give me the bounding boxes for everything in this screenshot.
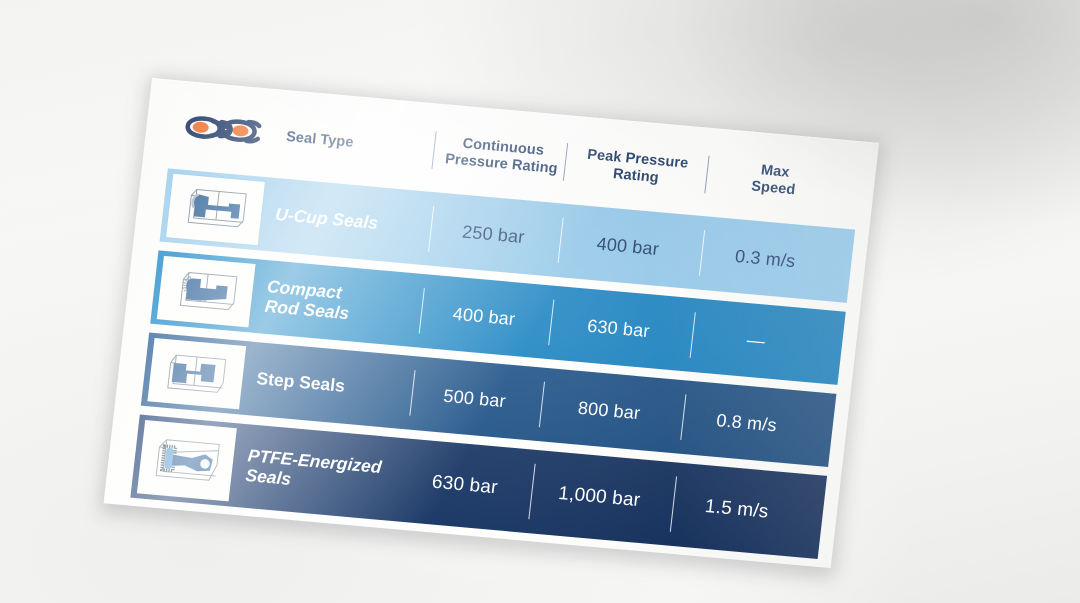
seal-profile-shape [185,278,229,303]
ptfe-energized-seal-drawing [143,426,230,496]
step-seal-drawing [154,342,240,404]
u-cup-seal-drawing [172,178,258,240]
cell-peak-pressure: 630 bar [552,312,686,345]
osc-logo-mark [179,109,266,150]
seal-profile-shape [172,361,216,385]
column-header-seal-type: Seal Type [283,128,436,158]
osc-logo [179,109,266,150]
cell-continuous-pressure: 250 bar [433,219,553,250]
cell-max-speed: 0.8 m/s [686,407,808,438]
compact-rod-seal-drawing [163,260,249,322]
cell-max-speed: 1.5 m/s [676,494,798,526]
seal-comparison-table: Seal Type Continuous Pressure Rating Pea… [131,94,863,551]
step-seal-icon [147,338,246,409]
column-header-continuous-pressure: Continuous Pressure Rating [442,134,563,178]
cell-max-speed: 0.3 m/s [704,243,826,274]
column-header-peak-pressure: Peak Pressure Rating [569,146,704,191]
card-surface: Seal Type Continuous Pressure Rating Pea… [104,78,880,568]
row-label: PTFE-Energized Seals [244,447,408,500]
cell-continuous-pressure: 400 bar [424,301,544,332]
cell-peak-pressure: 800 bar [542,394,676,427]
logo-dot-right [232,125,249,137]
row-label: Step Seals [255,369,417,403]
cell-continuous-pressure: 500 bar [415,383,535,414]
cell-peak-pressure: 1,000 bar [532,481,666,514]
column-header-max-speed: Max Speed [713,159,836,203]
cell-peak-pressure: 400 bar [561,230,695,263]
cell-max-speed: — [695,325,817,356]
row-label: Compact Rod Seals [264,278,428,331]
row-label-line-1: Step Seals [256,368,346,396]
header-separator-2 [563,143,569,181]
cell-continuous-pressure: 630 bar [405,469,525,501]
photo-scene: Seal Type Continuous Pressure Rating Pea… [0,0,1080,603]
ptfe-energized-seal-icon [137,420,237,501]
row-label: U-Cup Seals [274,205,436,239]
row-label-line-1: U-Cup Seals [274,204,379,233]
logo-dot-left [192,121,209,133]
spec-card: Seal Type Continuous Pressure Rating Pea… [104,78,880,568]
u-cup-seal-icon [166,174,265,245]
header-separator-3 [704,156,710,194]
compact-rod-seal-icon [157,256,256,327]
